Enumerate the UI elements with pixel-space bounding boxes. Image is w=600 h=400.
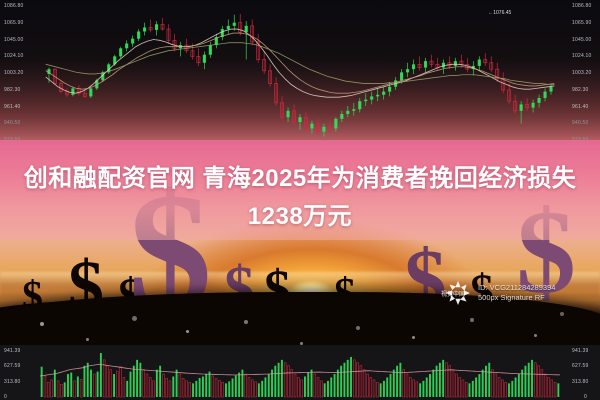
price-y-tick-left: 1065.90 xyxy=(4,20,23,26)
price-y-tick-right: 961.40 xyxy=(572,104,589,110)
bokeh-sparkle xyxy=(86,338,89,341)
watermark: 视觉中国 ID: VCG211284289394 500px Signature… xyxy=(443,278,555,308)
vcg-logo-text: 视觉中国 xyxy=(441,289,465,298)
vcg-logo-icon: 视觉中国 xyxy=(443,278,473,308)
headline-text: 创和融配资官网 青海2025年为消费者挽回经济损失 1238万元 xyxy=(0,160,600,236)
price-y-tick-left: 982.30 xyxy=(4,87,21,93)
price-y-tick-right: 919.60 xyxy=(572,137,589,143)
price-y-tick-right: 1045.00 xyxy=(572,37,591,43)
price-y-tick-right: 940.50 xyxy=(572,120,589,126)
volume-y-tick-right: 313.80 xyxy=(572,379,589,385)
price-y-tick-right: 1065.90 xyxy=(572,20,591,26)
bokeh-sparkle xyxy=(186,330,189,333)
price-y-tick-left: 940.50 xyxy=(4,120,21,126)
watermark-id: ID: VCG211284289394 xyxy=(478,283,555,293)
bokeh-sparkle xyxy=(470,318,474,322)
bokeh-sparkle xyxy=(40,322,44,326)
price-y-tick-left: 1086.80 xyxy=(4,3,23,9)
price-peak-annotation: ←1076.45 xyxy=(488,10,511,16)
bokeh-sparkle xyxy=(412,336,415,339)
price-chart-canvas xyxy=(0,0,600,146)
price-y-tick-left: 1003.20 xyxy=(4,70,23,76)
volume-y-tick-left: 941.39 xyxy=(4,348,21,354)
headline-line-1: 创和融配资官网 青海2025年为消费者挽回经济损失 xyxy=(24,165,577,192)
volume-y-tick-left: 0 xyxy=(4,394,7,400)
volume-chart-canvas xyxy=(0,345,600,400)
price-y-tick-left: 1045.00 xyxy=(4,37,23,43)
volume-y-tick-right: 941.39 xyxy=(572,348,589,354)
article-thumbnail-image: $ $ $ $ $ $ $ $ $ $ 1086.801086.801065.9… xyxy=(0,0,600,400)
price-y-tick-left: 1024.10 xyxy=(4,53,23,59)
volume-y-tick-right: 0 xyxy=(584,394,587,400)
bokeh-sparkle xyxy=(356,326,360,330)
bokeh-sparkle xyxy=(244,320,248,324)
volume-y-tick-right: 627.59 xyxy=(572,363,589,369)
watermark-license: 500px Signature RF xyxy=(478,293,555,303)
price-y-tick-right: 1086.80 xyxy=(572,3,591,9)
price-y-tick-right: 1024.10 xyxy=(572,53,591,59)
volume-bar-chart xyxy=(0,345,600,400)
price-y-tick-left: 919.60 xyxy=(4,137,21,143)
headline-line-2: 1238万元 xyxy=(0,198,600,236)
price-candlestick-chart xyxy=(0,0,600,146)
bokeh-sparkle xyxy=(534,334,537,337)
volume-y-tick-left: 627.59 xyxy=(4,363,21,369)
volume-y-tick-left: 313.80 xyxy=(4,379,21,385)
price-y-tick-left: 961.40 xyxy=(4,104,21,110)
price-y-tick-right: 1003.20 xyxy=(572,70,591,76)
price-y-tick-right: 982.30 xyxy=(572,87,589,93)
bokeh-sparkle xyxy=(560,312,564,316)
bokeh-sparkle xyxy=(132,316,137,321)
